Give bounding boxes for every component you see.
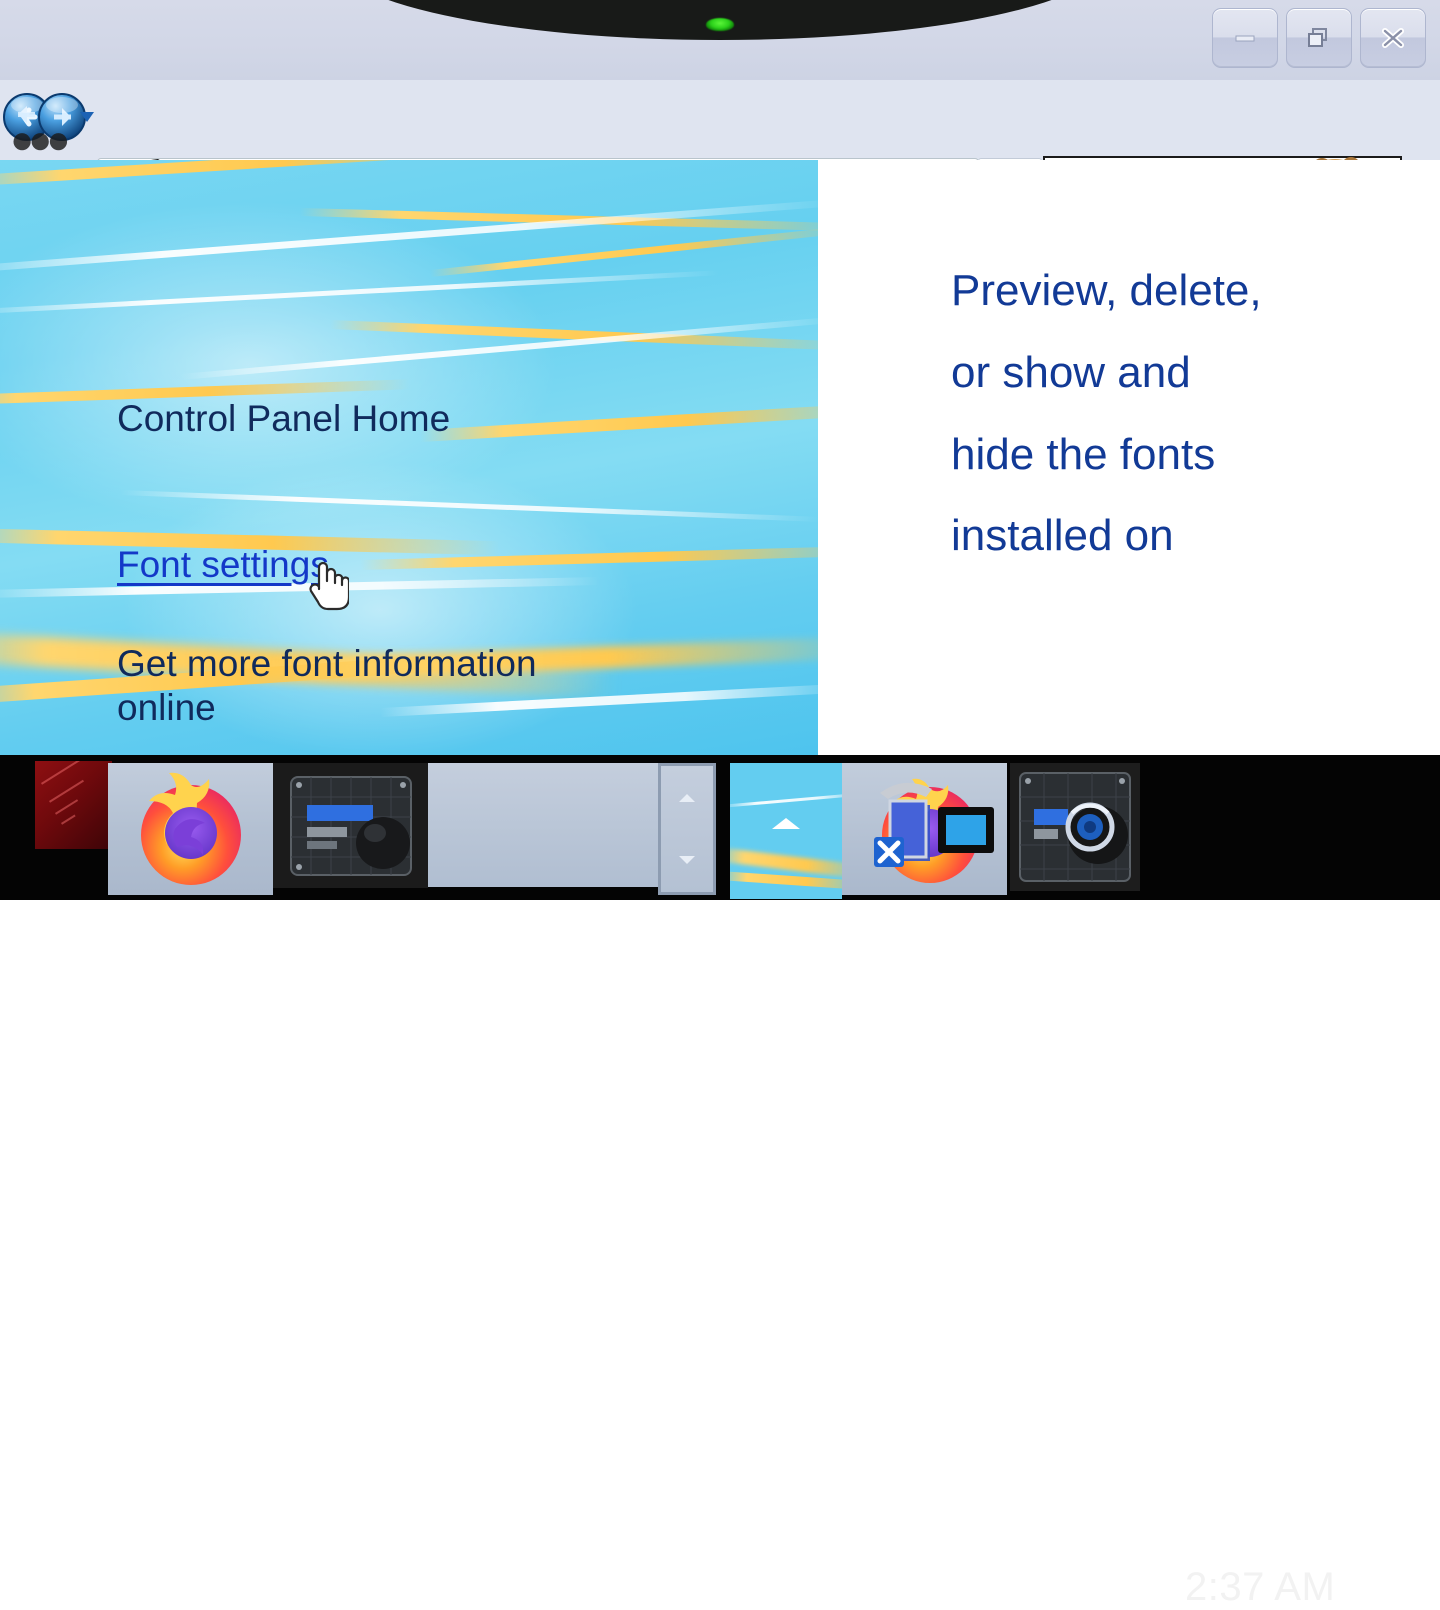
scroll-down-icon[interactable] (679, 856, 695, 864)
window-controls[interactable] (1212, 8, 1426, 68)
taskbar-item-firefox[interactable] (108, 763, 273, 895)
taskbar-item-scrollbar[interactable] (658, 763, 716, 895)
sidebar-item-font-settings[interactable]: Font settings (117, 543, 329, 587)
window-title-bar[interactable] (0, 0, 1440, 80)
minimize-icon (1233, 32, 1257, 44)
wallpaper-streak (330, 320, 818, 351)
speaker-icon (1016, 769, 1134, 885)
sidebar-item-get-more-font-information-online[interactable]: Get more font information online (117, 642, 717, 729)
monitor-icon (938, 807, 994, 853)
sidebar-item-control-panel-home[interactable]: Control Panel Home (117, 397, 450, 441)
nav-buttons-ghost-overlay: ●●● (10, 116, 64, 163)
nav-buttons[interactable]: ●●● (2, 90, 90, 148)
hand-cursor-icon (305, 555, 349, 611)
scroll-up-icon[interactable] (679, 794, 695, 802)
content-area: Control Panel Home Font settings Get mor… (0, 160, 1440, 755)
taskbar-clock[interactable]: 2:37 AM (1185, 1565, 1335, 1610)
cloud-icon (770, 815, 806, 831)
taskbar[interactable]: 2:37 AM (0, 755, 1440, 900)
taskbar-item-tray-icons[interactable] (842, 763, 1007, 895)
taskbar-item-blank-window[interactable] (428, 763, 663, 887)
wallpaper-streak (180, 316, 818, 379)
main-panel: Preview, delete, or show and hide the fo… (818, 160, 1440, 755)
wallpaper-glow (0, 200, 560, 530)
taskbar-item-display-settings[interactable] (273, 763, 428, 888)
monitor-bezel-overlay (330, 0, 1110, 40)
wallpaper-streak (0, 199, 818, 275)
close-button[interactable] (1360, 8, 1426, 68)
wallpaper-streak (0, 270, 719, 315)
sidebar: Control Panel Home Font settings Get mor… (0, 160, 818, 755)
taskbar-item-wallpaper-thumbnail[interactable] (730, 763, 842, 899)
display-icon (285, 771, 417, 881)
restore-icon (1306, 26, 1332, 50)
wallpaper-streak (360, 545, 818, 570)
wallpaper-streak (120, 490, 818, 522)
wallpaper-streak (430, 226, 818, 277)
wallpaper-streak (420, 403, 818, 442)
restore-button[interactable] (1286, 8, 1352, 68)
wallpaper-streak (0, 160, 520, 187)
navigation-bar: ●●● « Appearance and Font Settings (0, 80, 1440, 160)
minimize-button[interactable] (1212, 8, 1278, 68)
close-icon (1380, 26, 1406, 50)
firefox-icon (130, 771, 252, 889)
wallpaper-streak (300, 208, 818, 232)
fonts-description: Preview, delete, or show and hide the fo… (951, 250, 1281, 577)
taskbar-item-volume[interactable] (1010, 763, 1140, 891)
taskbar-item-red-thumbnail[interactable] (35, 761, 112, 849)
bezel-led-icon (706, 18, 734, 31)
